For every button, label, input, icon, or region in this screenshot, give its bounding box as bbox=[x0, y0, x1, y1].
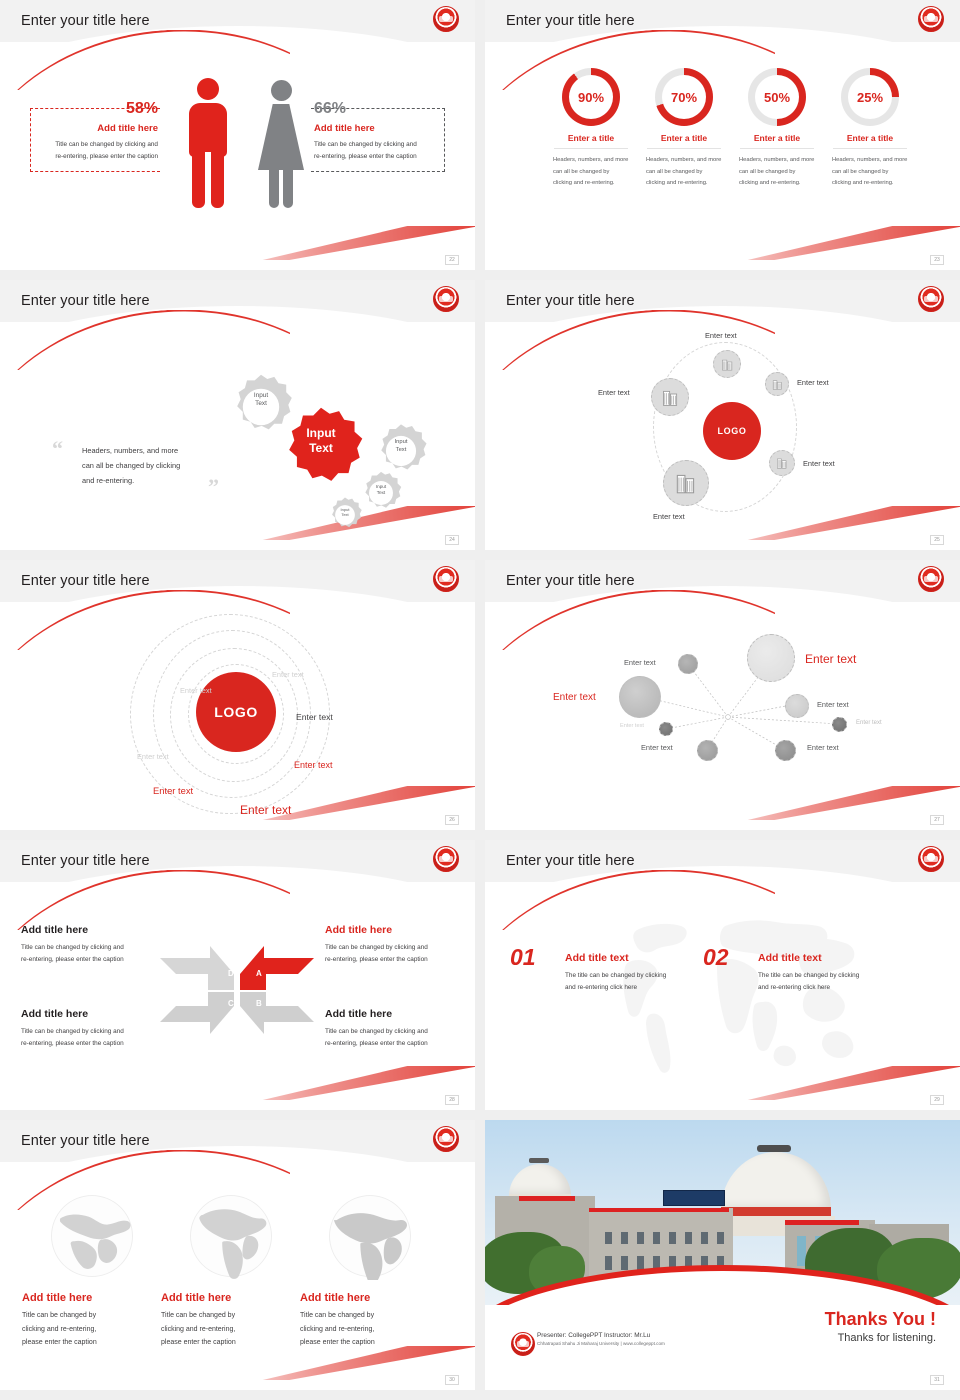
university-seal-icon bbox=[918, 566, 944, 592]
slide-concentric-rings[interactable]: Enter your title here LOGO Enter text En… bbox=[0, 560, 475, 830]
ring-title: Enter a title bbox=[636, 133, 732, 143]
slide-node-network[interactable]: Enter your title here Enter text bbox=[485, 560, 960, 830]
block-line-2: re-entering, please enter the caption bbox=[21, 1038, 155, 1050]
column-line-3: please enter the caption bbox=[22, 1336, 152, 1350]
building-node-bottom-left[interactable] bbox=[663, 460, 709, 506]
block-title: Add title here bbox=[21, 1008, 155, 1020]
ring-body: Headers, numbers, and more can all be ch… bbox=[636, 155, 732, 190]
block-title: Add title here bbox=[325, 924, 459, 936]
network-node-8[interactable] bbox=[775, 740, 796, 761]
slide-canvas: 58% Add title here Title can be changed … bbox=[0, 42, 475, 270]
page-title: Enter your title here bbox=[506, 573, 635, 589]
block-line-1: Title can be changed by clicking and bbox=[325, 1026, 459, 1038]
donut-chart-icon: 70% bbox=[655, 68, 713, 126]
ring-label-3: Enter text bbox=[296, 712, 333, 722]
university-seal-icon bbox=[511, 1332, 535, 1356]
slide-gears[interactable]: Enter your title here “ ” Headers, numbe… bbox=[0, 280, 475, 550]
item-number: 01 bbox=[510, 944, 536, 970]
ring-body: Headers, numbers, and more can all be ch… bbox=[729, 155, 825, 190]
ring-value: 25% bbox=[841, 68, 899, 126]
university-seal-icon bbox=[433, 846, 459, 872]
block-line-2: re-entering, please enter the caption bbox=[21, 954, 155, 966]
ring-card[interactable]: 90% Enter a title Headers, numbers, and … bbox=[543, 68, 639, 190]
slide-gallery: Enter your title here bbox=[0, 0, 960, 1394]
ring-label-5: Enter text bbox=[294, 760, 333, 770]
ring-card[interactable]: 25% Enter a title Headers, numbers, and … bbox=[822, 68, 918, 190]
presenter-line: Presenter: CollegePPT Instructor: Mr.Lu bbox=[537, 1332, 665, 1339]
node-label-left: Enter text bbox=[598, 388, 630, 397]
building-node-left[interactable] bbox=[651, 378, 689, 416]
slide-globes[interactable]: Enter your title here bbox=[0, 1120, 475, 1390]
slide-number: 24 bbox=[445, 535, 459, 545]
ring-label-6: Enter text bbox=[153, 785, 193, 796]
slide-number: 30 bbox=[445, 1375, 459, 1385]
right-subtitle: Add title here bbox=[314, 123, 444, 134]
page-title: Enter your title here bbox=[506, 853, 635, 869]
university-seal-icon bbox=[918, 6, 944, 32]
building-icon bbox=[660, 387, 681, 408]
network-label-5: Enter text bbox=[620, 723, 644, 729]
item-01-text: Add title text The title can be changed … bbox=[565, 952, 705, 995]
gear-label-grey-right: InputText bbox=[382, 439, 420, 454]
building-icon bbox=[673, 470, 699, 496]
globe-column-2: Add title here Title can be changed by c… bbox=[161, 1292, 291, 1350]
item-02-text: Add title text The title can be changed … bbox=[758, 952, 898, 995]
ring-title: Enter a title bbox=[822, 133, 918, 143]
gear-label-grey-xsmall: InputText bbox=[330, 507, 360, 517]
center-logo-circle: LOGO bbox=[196, 672, 276, 752]
item-line-2: and re-entering click here bbox=[565, 982, 705, 994]
right-percent: 66% Add title here Title can be changed … bbox=[314, 100, 444, 164]
network-node-3[interactable] bbox=[619, 676, 661, 718]
left-subtitle: Add title here bbox=[38, 123, 158, 134]
slide-canvas: “ ” Headers, numbers, and more can all b… bbox=[0, 322, 475, 550]
presenter-credit: Presenter: CollegePPT Instructor: Mr.Lu … bbox=[537, 1332, 665, 1346]
column-line-3: please enter the caption bbox=[161, 1336, 291, 1350]
network-label-4: Enter text bbox=[817, 700, 849, 709]
slide-number: 27 bbox=[930, 815, 944, 825]
slide-number: 23 bbox=[930, 255, 944, 265]
item-title: Add title text bbox=[758, 952, 898, 964]
ring-card[interactable]: 70% Enter a title Headers, numbers, and … bbox=[636, 68, 732, 190]
page-title: Enter your title here bbox=[506, 13, 635, 29]
right-percent-value: 66% bbox=[314, 100, 444, 118]
network-node-5[interactable] bbox=[659, 722, 673, 736]
globe-column-1: Add title here Title can be changed by c… bbox=[22, 1292, 152, 1350]
node-label-top: Enter text bbox=[705, 331, 737, 340]
university-seal-icon bbox=[918, 846, 944, 872]
network-node-7[interactable] bbox=[697, 740, 718, 761]
x-letter-d: D bbox=[228, 969, 234, 978]
slide-x-arrows[interactable]: Enter your title here Add title here Tit… bbox=[0, 840, 475, 1110]
block-line-2: re-entering, please enter the caption bbox=[325, 1038, 459, 1050]
left-percent-value: 58% bbox=[38, 100, 158, 118]
network-edges bbox=[485, 602, 960, 830]
divider bbox=[554, 148, 628, 149]
building-icon bbox=[771, 378, 784, 391]
gear-label-grey-top: InputText bbox=[240, 392, 282, 409]
center-logo-label: LOGO bbox=[718, 426, 747, 436]
ring-card[interactable]: 50% Enter a title Headers, numbers, and … bbox=[729, 68, 825, 190]
ring-body: Headers, numbers, and more can all be ch… bbox=[543, 155, 639, 190]
globe-icon-1 bbox=[48, 1192, 136, 1280]
finial-main-icon bbox=[757, 1145, 791, 1152]
network-label-3: Enter text bbox=[553, 692, 596, 703]
slide-numbered-map[interactable]: Enter your title here bbox=[485, 840, 960, 1110]
female-figure-icon bbox=[258, 80, 304, 208]
text-block-top-right: Add title here Title can be changed by c… bbox=[325, 924, 459, 967]
slide-canvas: LOGO Enter text Enter text Enter text En… bbox=[0, 602, 475, 830]
page-title: Enter your title here bbox=[21, 13, 150, 29]
quote-open-icon: “ bbox=[52, 436, 63, 462]
slide-gender-percent[interactable]: Enter your title here bbox=[0, 0, 475, 270]
block-line-2: re-entering, please enter the caption bbox=[325, 954, 459, 966]
slide-canvas: 01 Add title text The title can be chang… bbox=[485, 882, 960, 1110]
roof-trim-left bbox=[519, 1196, 575, 1201]
quote-line-3: and re-entering. bbox=[82, 474, 217, 489]
university-seal-icon bbox=[433, 1126, 459, 1152]
window-row-1 bbox=[605, 1232, 725, 1244]
divider bbox=[833, 148, 907, 149]
left-body-line-2: re-entering, please enter the caption bbox=[38, 151, 158, 163]
right-body-line-1: Title can be changed by clicking and bbox=[314, 139, 444, 151]
item-02: 02 bbox=[703, 944, 729, 971]
finial-left-icon bbox=[529, 1158, 549, 1163]
right-body-line-2: re-entering, please enter the caption bbox=[314, 151, 444, 163]
university-seal-icon bbox=[918, 286, 944, 312]
university-seal-icon bbox=[433, 6, 459, 32]
campus-photo bbox=[485, 1120, 960, 1305]
network-label-1: Enter text bbox=[624, 658, 656, 667]
donut-chart-icon: 25% bbox=[841, 68, 899, 126]
left-body-line-1: Title can be changed by clicking and bbox=[38, 139, 158, 151]
ring-body: Headers, numbers, and more can all be ch… bbox=[822, 155, 918, 190]
column-line-2: clicking and re-entering, bbox=[161, 1323, 291, 1337]
x-arrows-diagram bbox=[158, 934, 316, 1046]
credit-line: Chhatrapati Shahu Ji Maharaj University … bbox=[537, 1341, 665, 1346]
divider bbox=[647, 148, 721, 149]
roof-trim-right bbox=[785, 1220, 859, 1225]
ring-title: Enter a title bbox=[729, 133, 825, 143]
column-title: Add title here bbox=[22, 1292, 152, 1304]
ring-label-2: Enter text bbox=[180, 686, 212, 695]
x-letter-a: A bbox=[256, 969, 262, 978]
slide-number: 28 bbox=[445, 1095, 459, 1105]
text-block-top-left: Add title here Title can be changed by c… bbox=[21, 924, 155, 967]
male-figure-icon bbox=[186, 78, 230, 208]
donut-chart-icon: 50% bbox=[748, 68, 806, 126]
column-line-1: Title can be changed by bbox=[161, 1309, 291, 1323]
globe-icon-2 bbox=[187, 1192, 275, 1280]
block-line-1: Title can be changed by clicking and bbox=[325, 942, 459, 954]
thanks-block: Thanks You ! Thanks for listening. bbox=[825, 1309, 936, 1344]
network-label-2: Enter text bbox=[805, 652, 856, 666]
page-title: Enter your title here bbox=[506, 293, 635, 309]
slide-number: 22 bbox=[445, 255, 459, 265]
building-icon bbox=[720, 357, 735, 372]
divider bbox=[740, 148, 814, 149]
network-node-4[interactable] bbox=[785, 694, 809, 718]
quote-line-2: can all be changed by clicking bbox=[82, 459, 217, 474]
slide-canvas: Enter text Enter text Enter text Enter t… bbox=[485, 602, 960, 830]
globe-icon-3 bbox=[326, 1192, 414, 1280]
ring-title: Enter a title bbox=[543, 133, 639, 143]
slide-number: 29 bbox=[930, 1095, 944, 1105]
text-block-bottom-left: Add title here Title can be changed by c… bbox=[21, 1008, 155, 1051]
slide-orbit-buildings[interactable]: Enter your title here LOGO Enter bbox=[485, 280, 960, 550]
building-node-bottom-right[interactable] bbox=[769, 450, 795, 476]
building-icon bbox=[775, 456, 789, 470]
gear-label-grey-small: InputText bbox=[364, 484, 398, 496]
ring-value: 70% bbox=[655, 68, 713, 126]
block-line-1: Title can be changed by clicking and bbox=[21, 942, 155, 954]
network-node-1[interactable] bbox=[678, 654, 698, 674]
building-node-top-right[interactable] bbox=[765, 372, 789, 396]
item-number: 02 bbox=[703, 944, 729, 970]
quote-line-1: Headers, numbers, and more bbox=[82, 444, 217, 459]
slide-canvas: 90% Enter a title Headers, numbers, and … bbox=[485, 42, 960, 270]
slide-canvas: LOGO Enter text bbox=[485, 322, 960, 550]
column-line-3: please enter the caption bbox=[300, 1336, 430, 1350]
item-title: Add title text bbox=[565, 952, 705, 964]
column-title: Add title here bbox=[161, 1292, 291, 1304]
x-letter-b: B bbox=[256, 999, 262, 1008]
gear-label-red: InputText bbox=[283, 426, 359, 456]
block-line-1: Title can be changed by clicking and bbox=[21, 1026, 155, 1038]
block-title: Add title here bbox=[325, 1008, 459, 1020]
slide-number: 25 bbox=[930, 535, 944, 545]
column-title: Add title here bbox=[300, 1292, 430, 1304]
slide-thanks[interactable]: Presenter: CollegePPT Instructor: Mr.Lu … bbox=[485, 1120, 960, 1390]
network-label-8: Enter text bbox=[807, 743, 839, 752]
signboard bbox=[663, 1190, 725, 1206]
ring-value: 50% bbox=[748, 68, 806, 126]
building-node-top[interactable] bbox=[713, 350, 741, 378]
donut-chart-icon: 90% bbox=[562, 68, 620, 126]
thanks-subheading: Thanks for listening. bbox=[825, 1332, 936, 1344]
column-line-1: Title can be changed by bbox=[300, 1309, 430, 1323]
network-label-7: Enter text bbox=[641, 743, 673, 752]
university-seal-icon bbox=[433, 566, 459, 592]
slide-canvas: Add title here Title can be changed by c… bbox=[0, 882, 475, 1110]
network-node-6[interactable] bbox=[832, 717, 847, 732]
page-title: Enter your title here bbox=[21, 853, 150, 869]
slide-canvas: Add title here Title can be changed by c… bbox=[0, 1162, 475, 1390]
ring-label-4: Enter text bbox=[137, 752, 169, 761]
column-line-2: clicking and re-entering, bbox=[300, 1323, 430, 1337]
roof-trim-mid bbox=[589, 1208, 729, 1212]
slide-donut-rings[interactable]: Enter your title here 90% Enter a title … bbox=[485, 0, 960, 270]
node-label-top-right: Enter text bbox=[797, 378, 829, 387]
center-logo-label: LOGO bbox=[214, 704, 258, 720]
ring-label-7: Enter text bbox=[240, 803, 291, 817]
item-01: 01 bbox=[510, 944, 536, 971]
dome-main-band bbox=[721, 1207, 831, 1216]
page-title: Enter your title here bbox=[21, 293, 150, 309]
node-label-bottom-right: Enter text bbox=[803, 459, 835, 468]
left-percent: 58% Add title here Title can be changed … bbox=[38, 100, 158, 164]
block-title: Add title here bbox=[21, 924, 155, 936]
text-block-bottom-right: Add title here Title can be changed by c… bbox=[325, 1008, 459, 1051]
column-line-1: Title can be changed by bbox=[22, 1309, 152, 1323]
globe-column-3: Add title here Title can be changed by c… bbox=[300, 1292, 430, 1350]
item-line-1: The title can be changed by clicking bbox=[758, 970, 898, 982]
node-label-bottom-left: Enter text bbox=[653, 512, 685, 521]
thanks-heading: Thanks You ! bbox=[825, 1309, 936, 1330]
page-title: Enter your title here bbox=[21, 573, 150, 589]
ring-value: 90% bbox=[562, 68, 620, 126]
column-line-2: clicking and re-entering, bbox=[22, 1323, 152, 1337]
ring-label-1: Enter text bbox=[272, 670, 304, 679]
page-title: Enter your title here bbox=[21, 1133, 150, 1149]
slide-number: 31 bbox=[930, 1375, 944, 1385]
network-node-2-large[interactable] bbox=[747, 634, 795, 682]
slide-number: 26 bbox=[445, 815, 459, 825]
item-line-2: and re-entering click here bbox=[758, 982, 898, 994]
network-label-6: Enter text bbox=[856, 720, 882, 726]
university-seal-icon bbox=[433, 286, 459, 312]
center-logo-circle: LOGO bbox=[703, 402, 761, 460]
item-line-1: The title can be changed by clicking bbox=[565, 970, 705, 982]
x-letter-c: C bbox=[228, 999, 234, 1008]
